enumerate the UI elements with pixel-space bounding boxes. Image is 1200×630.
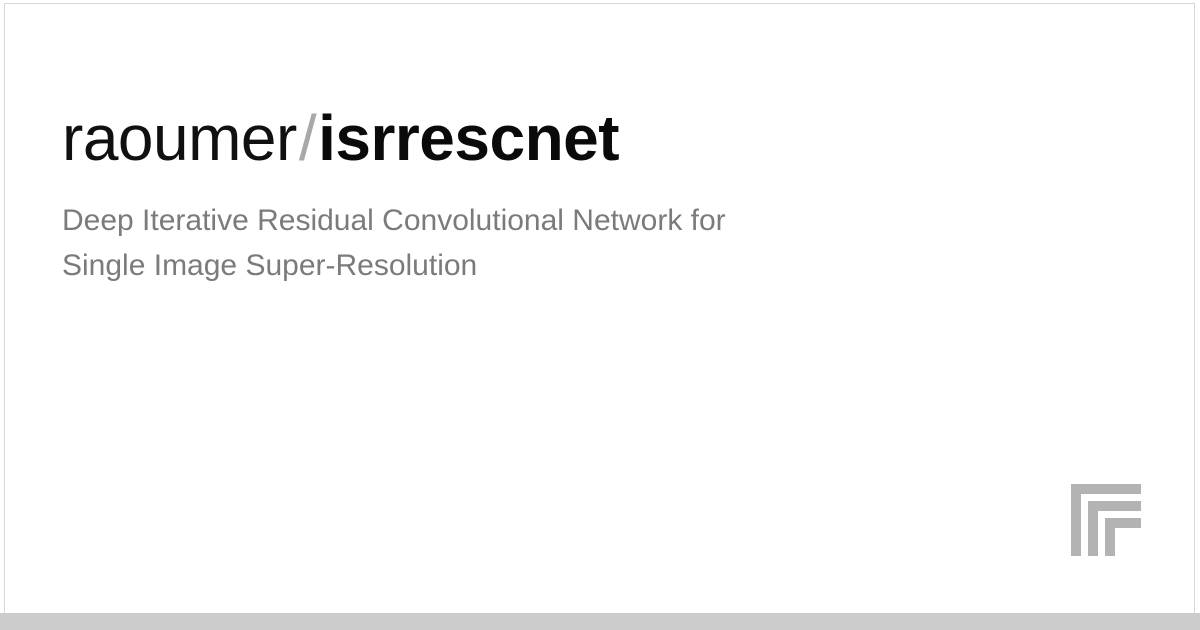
repository-description-line-1: Deep Iterative Residual Convolutional Ne…: [62, 198, 762, 243]
card-border: [4, 3, 1195, 613]
social-preview-card: raoumer/isrrescnet Deep Iterative Residu…: [0, 0, 1200, 630]
repository-description-line-2: Single Image Super-Resolution: [62, 243, 762, 288]
repository-owner: raoumer: [62, 102, 297, 174]
footer-bar: [0, 613, 1200, 630]
card-content: raoumer/isrrescnet Deep Iterative Residu…: [62, 96, 1072, 288]
nested-corner-brackets-logo-icon: [1071, 484, 1141, 556]
repository-description: Deep Iterative Residual Convolutional Ne…: [62, 198, 762, 288]
repository-name: isrrescnet: [318, 102, 619, 174]
repository-separator: /: [297, 102, 318, 174]
repository-title: raoumer/isrrescnet: [62, 96, 1072, 180]
